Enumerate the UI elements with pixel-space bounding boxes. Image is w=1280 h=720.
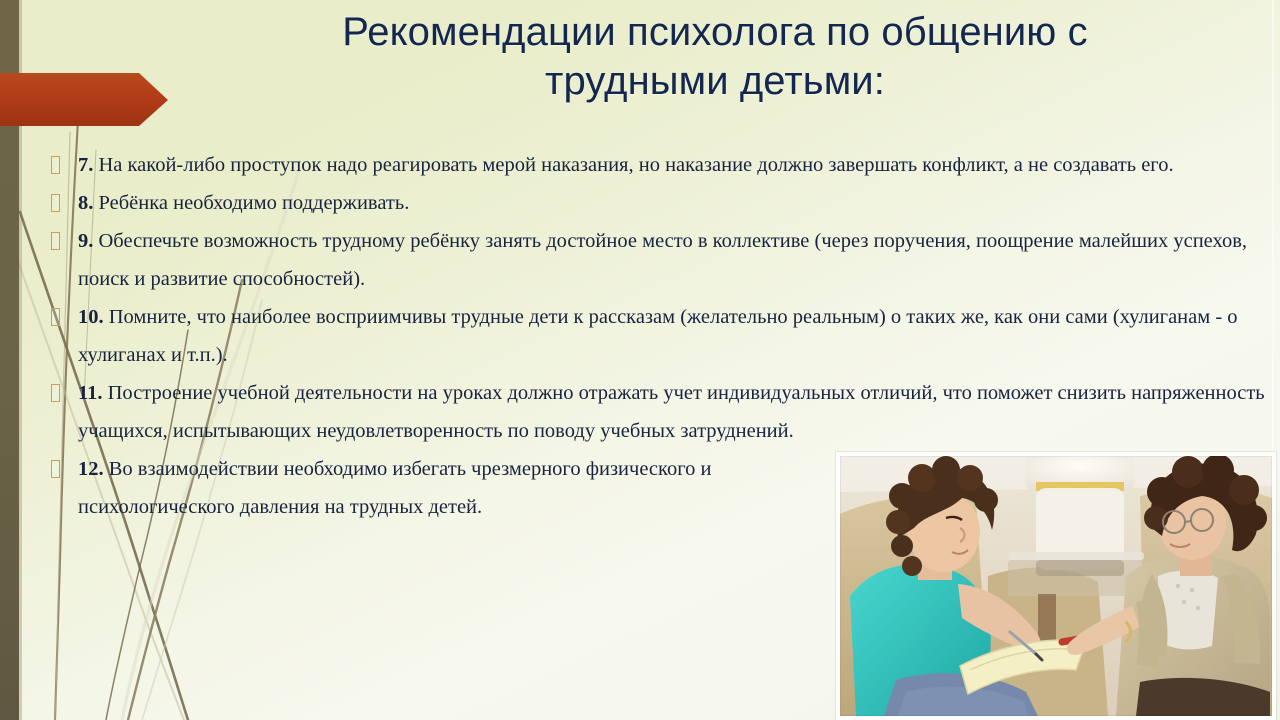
list-item-number: 9.	[78, 230, 99, 252]
arrow-banner-shape	[0, 73, 168, 126]
list-item-text: Во взаимодействии необходимо избегать чр…	[78, 458, 711, 518]
list-item-number: 8.	[78, 192, 99, 214]
list-item-text: На какой-либо проступок надо реагировать…	[99, 154, 1174, 176]
list-item-number: 10.	[78, 306, 109, 328]
list-item-number: 12.	[78, 458, 109, 480]
bullet-box-icon	[51, 156, 60, 174]
bullet-box-icon	[51, 194, 60, 212]
list-item: 10. Помните, что наиболее восприимчивы т…	[40, 298, 1262, 374]
list-item: 12. Во взаимодействии необходимо избегат…	[40, 450, 838, 526]
bullet-box-icon	[51, 460, 60, 478]
bullet-box-icon	[51, 232, 60, 250]
list-item-text: Построение учебной деятельности на урока…	[78, 382, 1265, 442]
list-item: 7. На какой-либо проступок надо реагиров…	[40, 146, 1262, 184]
list-item-number: 7.	[78, 154, 99, 176]
list-item-text: Помните, что наиболее восприимчивы трудн…	[78, 306, 1238, 366]
bullet-box-icon	[51, 308, 60, 326]
page-title: Рекомендации психолога по общению с труд…	[180, 8, 1250, 106]
photo-frame	[836, 452, 1276, 720]
list-item-text: Ребёнка необходимо поддерживать.	[99, 192, 410, 214]
list-item: 8. Ребёнка необходимо поддерживать.	[40, 184, 1262, 222]
list-item: 11. Построение учебной деятельности на у…	[40, 374, 1280, 450]
counseling-session-photo	[840, 456, 1272, 716]
title-line-2: трудными детьми:	[180, 57, 1250, 106]
list-item: 9. Обеспечьте возможность трудному ребён…	[40, 222, 1262, 298]
title-line-1: Рекомендации психолога по общению с	[180, 8, 1250, 57]
bullet-box-icon	[51, 384, 60, 402]
list-item-text: Обеспечьте возможность трудному ребёнку …	[78, 230, 1247, 290]
presentation-slide: Рекомендации психолога по общению с труд…	[0, 0, 1280, 720]
list-item-number: 11.	[78, 382, 108, 404]
